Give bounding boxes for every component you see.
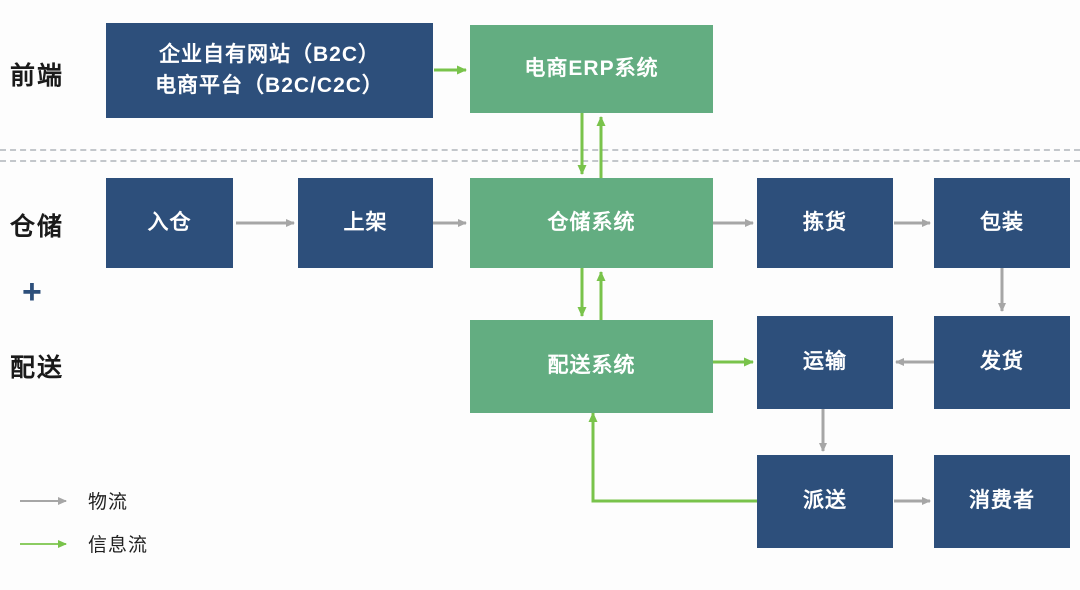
flow-diagram-canvas: 前端 仓储 + 配送: [0, 0, 1080, 590]
node-dispatch[interactable]: 派送: [757, 455, 893, 548]
node-shipping[interactable]: 发货: [934, 316, 1070, 409]
information-flow-arrow-icon: [18, 537, 74, 551]
legend-label-information: 信息流: [88, 530, 148, 557]
side-label-plus: +: [22, 275, 42, 309]
node-transport[interactable]: 运输: [757, 316, 893, 409]
logistics-arrow-icon: [18, 494, 74, 508]
node-inbound[interactable]: 入仓: [106, 178, 233, 268]
section-divider-lower: [0, 160, 1080, 162]
side-label-delivery: 配送: [10, 348, 64, 384]
node-delivery-system[interactable]: 配送系统: [470, 320, 713, 413]
node-packing[interactable]: 包装: [934, 178, 1070, 268]
side-label-warehousing: 仓储: [10, 207, 64, 243]
side-label-frontend: 前端: [10, 56, 64, 92]
node-consumer[interactable]: 消费者: [934, 455, 1070, 548]
node-putaway[interactable]: 上架: [298, 178, 433, 268]
legend-item-logistics: 物流: [18, 487, 128, 514]
section-divider-upper: [0, 149, 1080, 151]
legend-label-logistics: 物流: [88, 487, 128, 514]
node-picking[interactable]: 拣货: [757, 178, 893, 268]
node-warehouse-system[interactable]: 仓储系统: [470, 178, 713, 268]
legend-item-information: 信息流: [18, 530, 148, 557]
edge-dispatch-to-delivery-system: [593, 413, 757, 501]
node-erp-system[interactable]: 电商ERP系统: [470, 25, 713, 113]
node-channels[interactable]: 企业自有网站（B2C） 电商平台（B2C/C2C）: [106, 23, 433, 118]
